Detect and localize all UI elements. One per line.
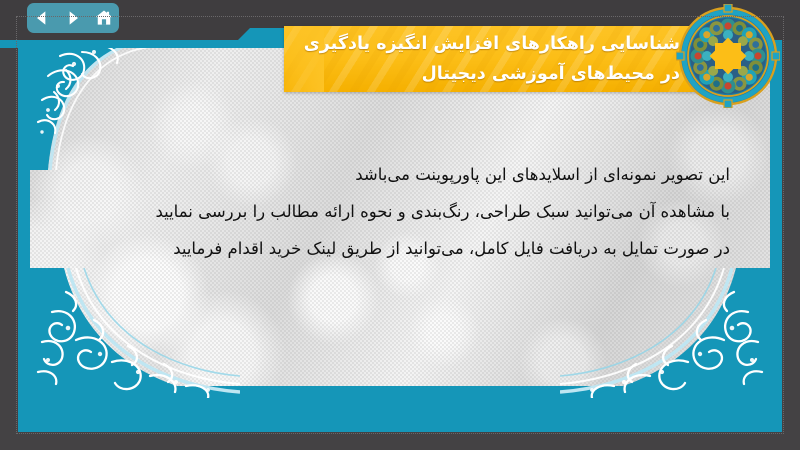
forward-arrow-icon[interactable]: [61, 6, 85, 30]
navigation-panel[interactable]: [27, 3, 119, 33]
ornamental-medallion-icon: [676, 4, 780, 108]
body-line-3: در صورت تمایل به دریافت فایل کامل، می‌تو…: [74, 230, 730, 267]
slide-body-text: این تصویر نمونه‌ای از اسلایدهای این پاور…: [74, 156, 730, 267]
slide-title: شناسایی راهکارهای افزایش انگیزه یادگیری …: [310, 29, 680, 89]
presentation-slide: این تصویر نمونه‌ای از اسلایدهای این پاور…: [0, 0, 800, 450]
title-line-1: شناسایی راهکارهای افزایش انگیزه یادگیری: [310, 29, 680, 59]
back-arrow-icon[interactable]: [30, 6, 54, 30]
body-line-2: با مشاهده آن می‌توانید سبک طراحی، رنگ‌بن…: [74, 193, 730, 230]
title-line-2: در محیط‌های آموزشی دیجیتال: [310, 59, 680, 89]
body-line-1: این تصویر نمونه‌ای از اسلایدهای این پاور…: [74, 156, 730, 193]
bottom-teal-band: [18, 386, 782, 432]
home-icon[interactable]: [92, 6, 116, 30]
